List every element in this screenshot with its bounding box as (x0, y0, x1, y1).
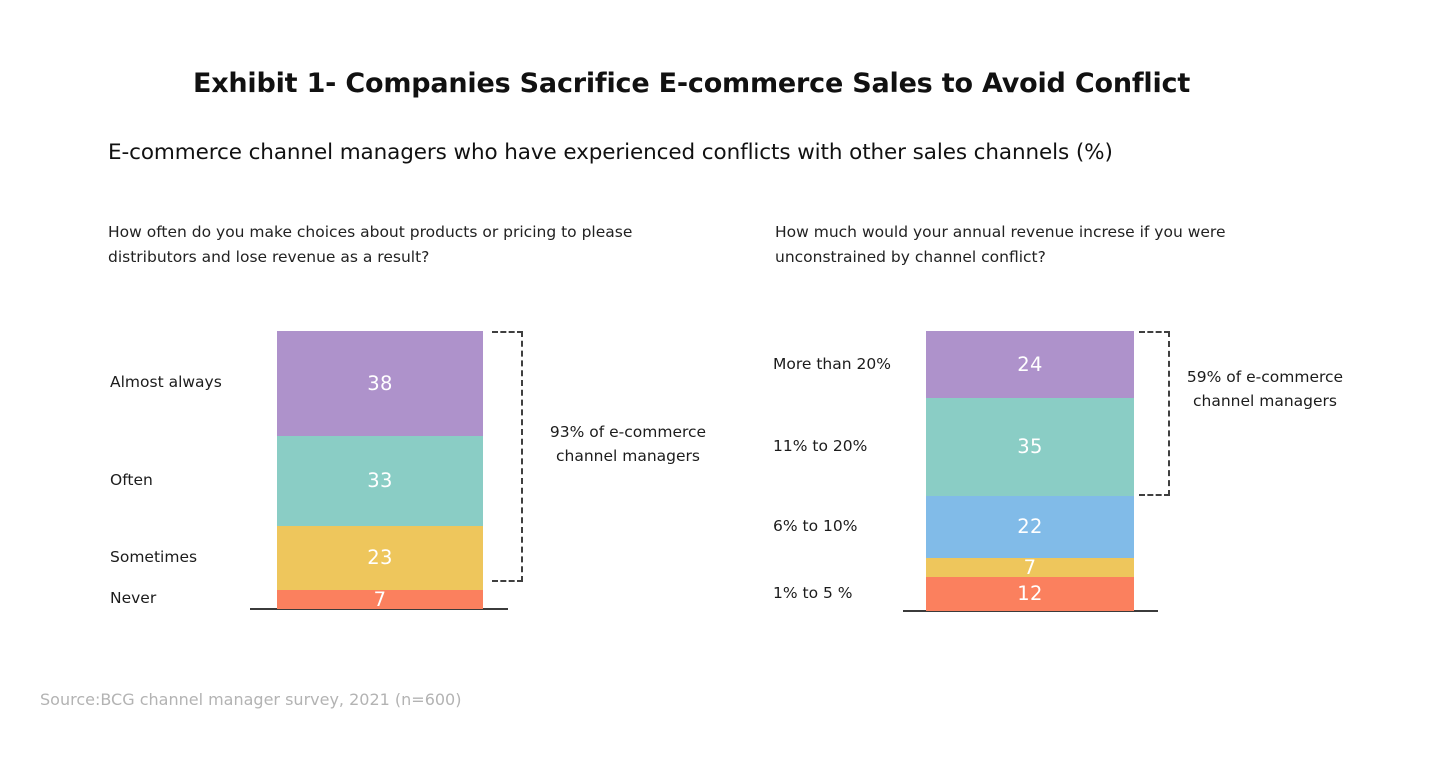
bar-segment-value: 38 (367, 374, 392, 394)
panel-left: How often do you make choices about prod… (0, 0, 760, 772)
bar-segment: 7 (926, 558, 1134, 578)
dashed-bracket-left (492, 331, 523, 582)
category-label: More than 20% (773, 357, 891, 373)
category-label: Almost always (110, 375, 222, 391)
bar-segment-value: 12 (1017, 584, 1042, 604)
chart-page: Exhibit 1- Companies Sacrifice E-commerc… (0, 0, 1440, 772)
category-label: 1% to 5 % (773, 586, 853, 602)
panel-left-question: How often do you make choices about prod… (108, 220, 698, 270)
bracket-note-left: 93% of e-commerce channel managers (548, 420, 708, 468)
bar-segment: 12 (926, 577, 1134, 611)
bar-segment-value: 33 (367, 471, 392, 491)
bar-segment: 35 (926, 398, 1134, 496)
bar-segment: 23 (277, 526, 483, 589)
category-label: 6% to 10% (773, 519, 857, 535)
bar-segment-value: 22 (1017, 517, 1042, 537)
stacked-bar-chart-left: 3833237 93% of e-commerce channel manage… (108, 325, 708, 625)
stacked-bar-chart-right: 243522712 59% of e-commerce channel mana… (773, 325, 1373, 625)
bar-segment: 38 (277, 331, 483, 436)
source-note: Source:BCG channel manager survey, 2021 … (40, 690, 461, 709)
dashed-bracket-right (1139, 331, 1170, 496)
category-label: 11% to 20% (773, 439, 867, 455)
bar-segment-value: 7 (374, 590, 387, 609)
bar-segment-value: 7 (1024, 558, 1037, 578)
category-label: Sometimes (110, 550, 197, 566)
stacked-bar-left: 3833237 (277, 331, 483, 609)
bar-segment: 7 (277, 590, 483, 609)
panel-right-question: How much would your annual revenue incre… (775, 220, 1285, 270)
bracket-note-right: 59% of e-commerce channel managers (1185, 365, 1345, 413)
bar-segment-value: 35 (1017, 437, 1042, 457)
bar-segment-value: 24 (1017, 355, 1042, 375)
panel-right: How much would your annual revenue incre… (760, 0, 1440, 772)
category-label: Never (110, 591, 156, 607)
stacked-bar-right: 243522712 (926, 331, 1134, 611)
bar-segment: 33 (277, 436, 483, 527)
bar-segment: 22 (926, 496, 1134, 558)
category-label: Often (110, 473, 153, 489)
bar-segment-value: 23 (367, 548, 392, 568)
bar-segment: 24 (926, 331, 1134, 398)
